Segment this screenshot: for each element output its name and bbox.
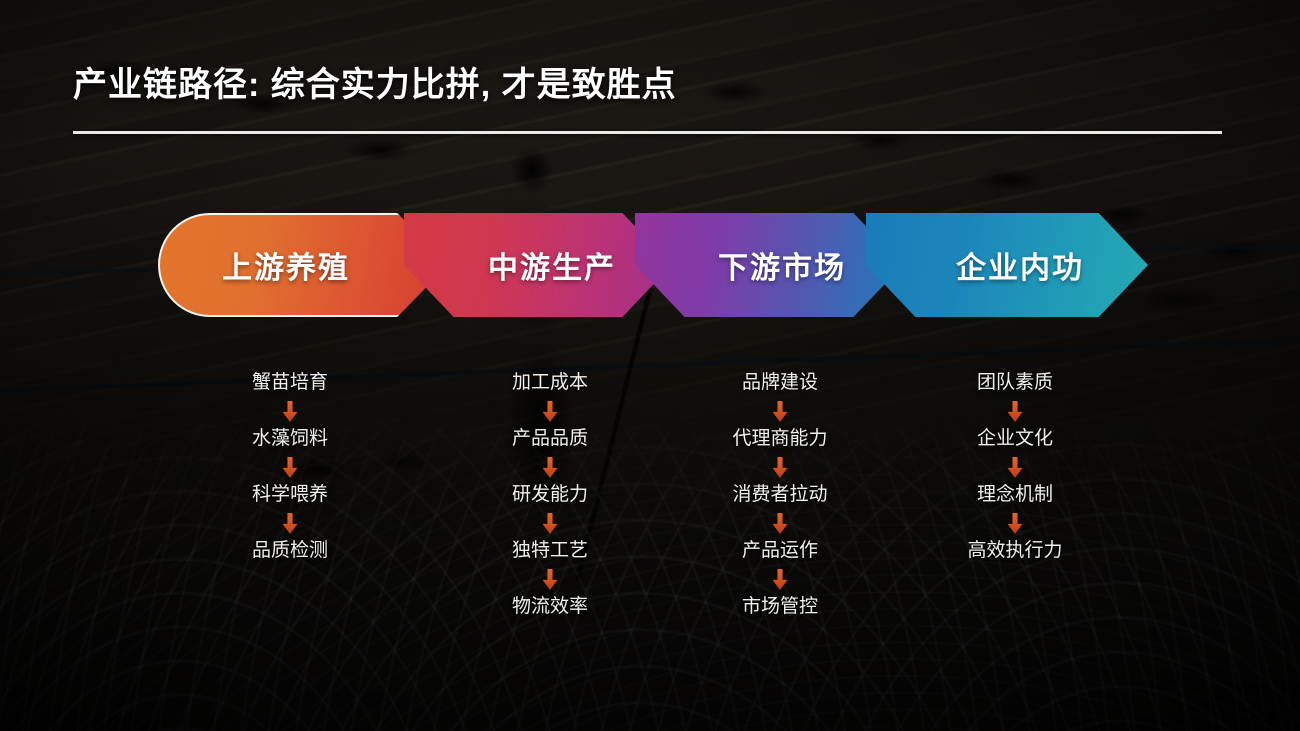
flow-step: 高效执行力 [967,540,1062,562]
chevron-label: 上游养殖 [222,243,350,287]
flow-step: 加工成本 [512,372,588,394]
arrow-down-icon [283,513,298,534]
flow-step: 品牌建设 [742,372,818,394]
flow-column-downstream: 品牌建设代理商能力消费者拉动产品运作市场管控 [670,372,890,618]
arrow-down-icon [543,401,558,422]
arrow-down-icon [1008,457,1023,478]
flow-step: 蟹苗培育 [252,372,328,394]
title-divider [73,131,1222,134]
flow-step: 研发能力 [512,484,588,506]
arrow-down-icon [1008,401,1023,422]
arrow-down-icon [283,401,298,422]
flow-step: 团队素质 [977,372,1053,394]
chevron-stage-internal[interactable]: 企业内功 [866,213,1148,317]
flow-step: 独特工艺 [512,540,588,562]
arrow-down-icon [773,569,788,590]
flow-step: 水藻饲料 [252,428,328,450]
flow-step: 代理商能力 [732,428,827,450]
page-title: 产业链路径: 综合实力比拼, 才是致胜点 [73,57,677,106]
arrow-down-icon [773,457,788,478]
chevron-label: 企业内功 [956,243,1084,287]
arrow-down-icon [543,457,558,478]
arrow-down-icon [773,401,788,422]
flow-column-upstream: 蟹苗培育水藻饲料科学喂养品质检测 [180,372,400,562]
flow-column-midstream: 加工成本产品品质研发能力独特工艺物流效率 [440,372,660,618]
chevron-stage-downstream[interactable]: 下游市场 [635,213,903,317]
chevron-stage-midstream[interactable]: 中游生产 [404,213,672,317]
arrow-down-icon [283,457,298,478]
value-chain-banner: 上游养殖 中游生产 下游市场 企业内功 [158,213,1148,317]
chevron-label: 下游市场 [718,243,846,287]
flow-step: 企业文化 [977,428,1053,450]
arrow-down-icon [1008,513,1023,534]
flow-column-internal: 团队素质企业文化理念机制高效执行力 [905,372,1125,562]
flow-step: 产品品质 [512,428,588,450]
flow-step: 消费者拉动 [732,484,827,506]
flow-step: 产品运作 [742,540,818,562]
flow-step: 品质检测 [252,540,328,562]
chevron-label: 中游生产 [488,243,616,287]
arrow-down-icon [773,513,788,534]
flow-step: 理念机制 [977,484,1053,506]
arrow-down-icon [543,513,558,534]
flow-step: 物流效率 [512,596,588,618]
arrow-down-icon [543,569,558,590]
slide-canvas: 产业链路径: 综合实力比拼, 才是致胜点 上游养殖 中游生产 下游市场 企业内功… [0,0,1300,731]
flow-step: 市场管控 [742,596,818,618]
flow-step: 科学喂养 [252,484,328,506]
background-vignette [0,0,1300,731]
